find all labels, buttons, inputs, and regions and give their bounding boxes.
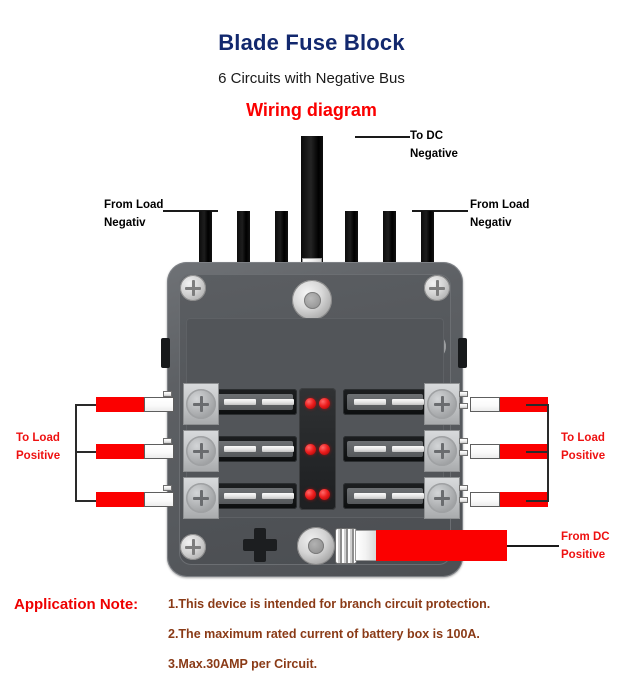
callout-to-load-positive-right-line1: To Load [561,430,605,448]
leader-line-dc-negative [355,136,410,138]
output-terminal-screw-2[interactable] [186,436,216,466]
callout-to-dc-negative-line2: Negative [410,146,458,164]
load-bus-right-stub-3 [526,500,548,502]
load-bus-right-stub-1 [526,404,548,406]
callout-to-load-positive-left-line2: Positive [16,448,60,466]
positive-polarity-marking [243,528,277,562]
output-terminal-screw-6[interactable] [427,483,457,513]
fuse-3-blade-left [224,493,256,499]
callout-to-load-positive-right: To Load Positive [561,430,605,466]
callout-to-load-positive-left-line1: To Load [16,430,60,448]
fuse-1-blade-left [224,399,256,405]
terminal-tab-right-3a [459,485,468,491]
callout-from-dc-positive-line2: Positive [561,547,610,565]
load-wire-right-2-terminal [470,444,500,459]
callout-from-load-negativ-right-line2: Negativ [470,215,529,233]
fuse-3-blade-right [262,493,294,499]
fuse-6-blade-left [354,493,386,499]
callout-from-load-negativ-left: From Load Negativ [104,197,163,233]
led-indicator-strip [299,388,336,510]
output-terminal-screw-1[interactable] [186,389,216,419]
callout-from-load-negativ-left-line2: Negativ [104,215,163,233]
fuse-6 [347,488,423,504]
callout-from-load-negativ-right-line1: From Load [470,197,529,215]
output-terminal-screw-4[interactable] [427,389,457,419]
load-wire-left-1-red [96,397,144,412]
fuse-2-blade-right [262,446,294,452]
terminal-tab-left-3a [163,485,172,491]
callout-to-dc-negative: To DC Negative [410,128,458,164]
application-note-item-2: 2.The maximum rated current of battery b… [168,627,480,641]
fuse-5-blade-right [392,446,424,452]
callout-from-dc-positive: From DC Positive [561,529,610,565]
load-bus-right-stub-2 [526,451,548,453]
load-bus-left-stub-2 [75,451,97,453]
fuse-slot-1[interactable] [213,389,297,415]
leader-line-dc-positive [507,545,559,547]
fuse-slot-4[interactable] [343,389,427,415]
fuse-4-blade-right [392,399,424,405]
mounting-screw-top-left[interactable] [180,275,206,301]
led-indicator-4 [319,444,330,455]
fuse-4-blade-left [354,399,386,405]
fuse-1 [217,394,293,410]
fuse-5 [347,441,423,457]
led-indicator-2 [319,398,330,409]
load-bus-right-vertical [547,404,549,502]
fuse-4 [347,394,423,410]
load-wire-left-2-red [96,444,144,459]
load-wire-left-3-red [96,492,144,507]
positive-cable-ferrule [355,530,377,561]
led-indicator-1 [305,398,316,409]
fuse-1-blade-right [262,399,294,405]
terminal-tab-right-1a [459,391,468,397]
load-bus-left-vertical [75,404,77,502]
fuse-slot-3[interactable] [213,483,297,509]
fuse-3 [217,488,293,504]
dc-positive-cable [376,530,507,561]
callout-to-load-positive-left: To Load Positive [16,430,60,466]
output-terminal-screw-3[interactable] [186,483,216,513]
fuse-slot-5[interactable] [343,436,427,462]
application-note-item-1: 1.This device is intended for branch cir… [168,597,490,611]
load-wire-left-1-terminal [144,397,174,412]
callout-to-dc-negative-line1: To DC [410,128,458,146]
page-title: Blade Fuse Block [0,30,623,56]
load-wire-left-3-terminal [144,492,174,507]
main-dc-negative-cable [301,136,323,262]
output-terminal-screw-5[interactable] [427,436,457,466]
callout-from-load-negativ-right: From Load Negativ [470,197,529,233]
application-note-heading: Application Note: [14,596,138,613]
positive-terminal-post[interactable] [297,527,335,565]
fuse-slot-6[interactable] [343,483,427,509]
callout-from-load-negativ-left-line1: From Load [104,197,163,215]
load-wire-right-3-terminal [470,492,500,507]
application-note-item-3: 3.Max.30AMP per Circuit. [168,657,317,671]
terminal-tab-right-3b [459,497,468,503]
callout-from-dc-positive-line1: From DC [561,529,610,547]
load-wire-left-2-terminal [144,444,174,459]
terminal-tab-right-1b [459,403,468,409]
fuse-slot-2[interactable] [213,436,297,462]
led-indicator-5 [305,489,316,500]
load-bus-left-stub-3 [75,500,97,502]
callout-to-load-positive-right-line2: Positive [561,448,605,466]
wiring-diagram-canvas: Blade Fuse Block 6 Circuits with Negativ… [0,0,623,691]
terminal-tab-right-2a [459,438,468,444]
led-indicator-3 [305,444,316,455]
side-clip-left [161,338,170,368]
fuse-5-blade-left [354,446,386,452]
fuse-6-blade-right [392,493,424,499]
page-subtitle: 6 Circuits with Negative Bus [0,70,623,87]
mounting-screw-top-right[interactable] [424,275,450,301]
fuse-2 [217,441,293,457]
diagram-type-title: Wiring diagram [0,100,623,121]
load-bus-left-stub-1 [75,404,97,406]
load-wire-right-1-terminal [470,397,500,412]
led-indicator-6 [319,489,330,500]
side-clip-right [458,338,467,368]
terminal-tab-right-2b [459,450,468,456]
mounting-screw-bottom-left[interactable] [180,534,206,560]
negative-terminal-post[interactable] [292,280,332,320]
positive-cable-collar [335,528,357,564]
fuse-2-blade-left [224,446,256,452]
